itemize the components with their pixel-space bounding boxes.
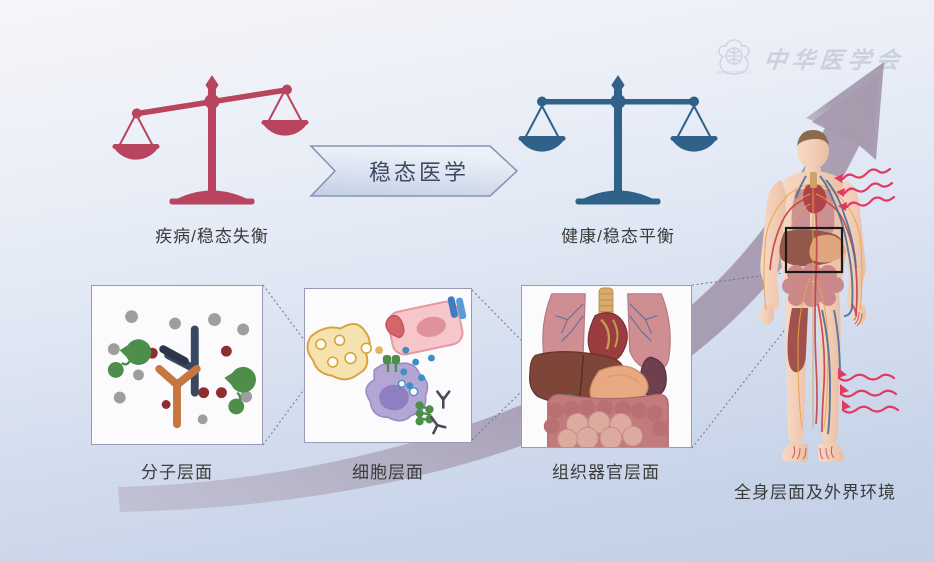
environment-arrows-lower bbox=[822, 366, 902, 436]
panel-tissue-organ-caption: 组织器官层面 bbox=[518, 458, 694, 483]
panel-molecular[interactable] bbox=[91, 285, 263, 445]
antibody-grey bbox=[431, 392, 449, 433]
signal-dot-orange bbox=[375, 346, 383, 354]
epithelial-cell-pink bbox=[383, 294, 471, 357]
dendritic-cell-yellow bbox=[307, 324, 371, 379]
panel-cellular[interactable] bbox=[304, 288, 472, 443]
antibody-orange bbox=[159, 369, 197, 424]
homeostatic-medicine-figure: CHINESE MEDICAL 中华医学会 bbox=[0, 0, 934, 562]
panel-whole-body-caption: 全身层面及外界环境 bbox=[704, 478, 926, 503]
panel-molecular-caption: 分子层面 bbox=[90, 458, 264, 483]
panel-cellular-caption: 细胞层面 bbox=[303, 458, 473, 483]
left-hand bbox=[760, 303, 774, 325]
panel-tissue-organ[interactable] bbox=[521, 285, 692, 448]
environment-arrows-upper bbox=[828, 165, 898, 235]
